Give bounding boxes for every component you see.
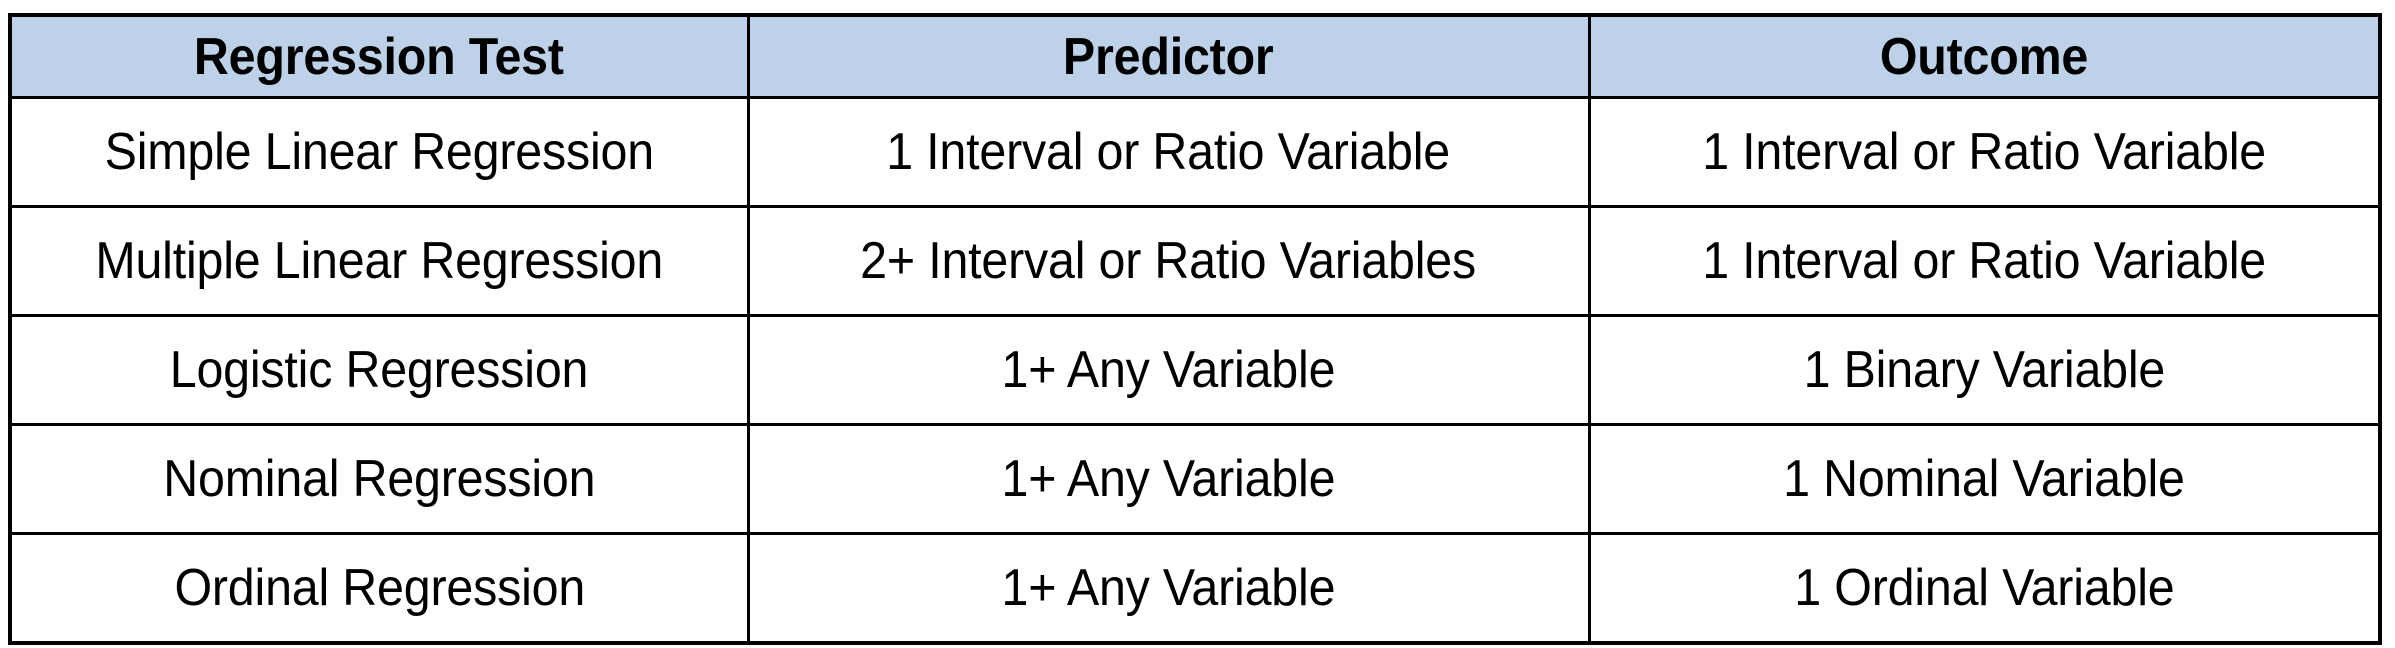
table-body: Simple Linear Regression 1 Interval or R… [10,98,2380,644]
cell-predictor-text: 2+ Interval or Ratio Variables [861,235,1477,287]
cell-regression-test: Multiple Linear Regression [10,207,748,316]
cell-regression-test: Simple Linear Regression [10,98,748,207]
regression-table: Regression Test Predictor Outcome Simple… [8,13,2382,645]
table-header-row: Regression Test Predictor Outcome [10,15,2380,98]
cell-outcome: 1 Interval or Ratio Variable [1589,207,2380,316]
column-header-regression-test: Regression Test [10,15,748,98]
cell-regression-test-text: Nominal Regression [163,453,595,505]
cell-outcome: 1 Nominal Variable [1589,425,2380,534]
cell-predictor: 1+ Any Variable [748,425,1589,534]
cell-outcome: 1 Binary Variable [1589,316,2380,425]
cell-regression-test-text: Ordinal Regression [174,562,585,614]
cell-outcome-text: 1 Nominal Variable [1783,453,2185,505]
cell-outcome-text: 1 Interval or Ratio Variable [1702,126,2266,178]
cell-outcome-text: 1 Ordinal Variable [1794,562,2174,614]
cell-outcome: 1 Interval or Ratio Variable [1589,98,2380,207]
column-header-outcome: Outcome [1589,15,2380,98]
column-header-regression-test-label: Regression Test [194,31,564,83]
cell-outcome-text: 1 Interval or Ratio Variable [1702,235,2266,287]
cell-predictor: 1 Interval or Ratio Variable [748,98,1589,207]
cell-predictor-text: 1+ Any Variable [1002,344,1336,396]
cell-regression-test-text: Multiple Linear Regression [95,235,663,287]
regression-table-container: Regression Test Predictor Outcome Simple… [8,13,2378,625]
cell-predictor: 1+ Any Variable [748,534,1589,644]
table-row: Ordinal Regression 1+ Any Variable 1 Ord… [10,534,2380,644]
table-row: Multiple Linear Regression 2+ Interval o… [10,207,2380,316]
cell-predictor-text: 1+ Any Variable [1002,453,1336,505]
cell-predictor: 2+ Interval or Ratio Variables [748,207,1589,316]
cell-outcome: 1 Ordinal Variable [1589,534,2380,644]
column-header-predictor-label: Predictor [1063,31,1274,83]
table-row: Nominal Regression 1+ Any Variable 1 Nom… [10,425,2380,534]
cell-regression-test: Nominal Regression [10,425,748,534]
table-header: Regression Test Predictor Outcome [10,15,2380,98]
column-header-outcome-label: Outcome [1880,31,2088,83]
cell-regression-test-text: Simple Linear Regression [105,126,654,178]
table-row: Simple Linear Regression 1 Interval or R… [10,98,2380,207]
cell-predictor-text: 1+ Any Variable [1002,562,1336,614]
cell-regression-test: Ordinal Regression [10,534,748,644]
cell-regression-test: Logistic Regression [10,316,748,425]
cell-regression-test-text: Logistic Regression [170,344,588,396]
table-row: Logistic Regression 1+ Any Variable 1 Bi… [10,316,2380,425]
cell-outcome-text: 1 Binary Variable [1803,344,2165,396]
cell-predictor: 1+ Any Variable [748,316,1589,425]
column-header-predictor: Predictor [748,15,1589,98]
cell-predictor-text: 1 Interval or Ratio Variable [887,126,1451,178]
